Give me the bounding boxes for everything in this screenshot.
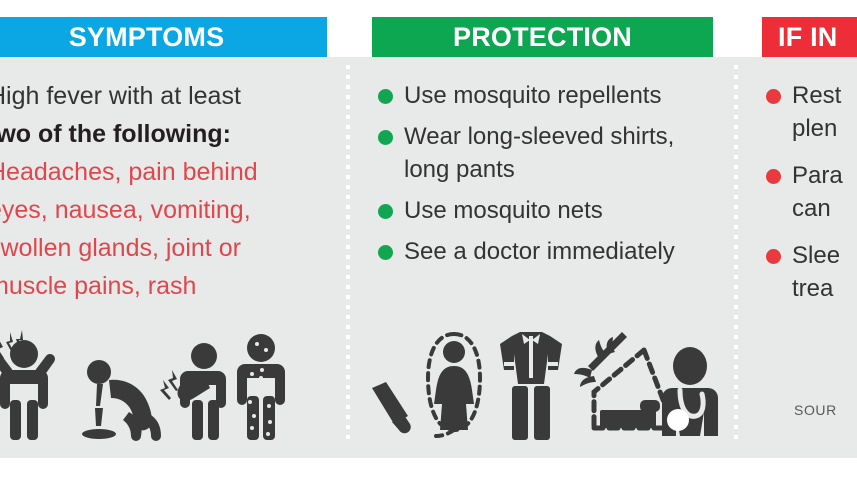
column-symptoms: High fever with at least two of the foll… (0, 57, 340, 458)
protection-item-2: Wear long-sleeved shirts,long pants (404, 120, 674, 186)
header-if-infected: IF IN (762, 17, 857, 57)
column-if-infected: Rest plen Para can Slee trea SOUR (744, 57, 857, 458)
long-sleeved-clothing-icon (498, 330, 564, 442)
source-label: SOUR (794, 402, 837, 418)
list-item: Wear long-sleeved shirts,long pants (378, 120, 728, 186)
symptoms-icon-strip (0, 329, 340, 444)
list-item: Para can (766, 159, 857, 225)
protection-bullet-list: Use mosquito repellents Wear long-sleeve… (356, 79, 728, 276)
bullet-dot-icon (378, 204, 393, 219)
list-item: Rest plen (766, 79, 857, 145)
bullet-dot-icon (766, 169, 781, 184)
rash-figure-icon (228, 330, 294, 442)
content-panel: High fever with at least two of the foll… (0, 57, 857, 458)
symptoms-line-1: High fever with at least (0, 77, 340, 115)
if-infected-item-1: Rest plen (792, 79, 857, 145)
header-symptoms: SYMPTOMS (0, 17, 327, 57)
protection-item-4: See a doctor immediately (404, 235, 675, 268)
header-bar-row: SYMPTOMS PROTECTION IF IN (0, 0, 857, 57)
joint-pain-figure-icon (160, 338, 236, 442)
protected-person-icon (418, 330, 490, 442)
list-item: Use mosquito nets (378, 194, 728, 227)
protection-item-3: Use mosquito nets (404, 194, 603, 227)
symptoms-line-2: two of the following: (0, 115, 340, 153)
headache-figure-icon (0, 330, 70, 442)
column-divider-2 (734, 65, 738, 441)
list-item: Use mosquito repellents (378, 79, 728, 112)
protection-item-1: Use mosquito repellents (404, 79, 661, 112)
column-divider-1 (346, 65, 350, 441)
list-item: See a doctor immediately (378, 235, 728, 268)
bullet-dot-icon (378, 130, 393, 145)
protection-icon-strip (356, 329, 728, 444)
if-infected-item-2: Para can (792, 159, 857, 225)
symptoms-line-4: eyes, nausea, vomiting, (0, 191, 340, 229)
symptoms-text-block: High fever with at least two of the foll… (0, 77, 340, 305)
bullet-dot-icon (766, 249, 781, 264)
header-protection: PROTECTION (372, 17, 713, 57)
list-item: Slee trea (766, 239, 857, 305)
bullet-dot-icon (766, 89, 781, 104)
bullet-dot-icon (378, 245, 393, 260)
if-infected-item-3: Slee trea (792, 239, 857, 305)
column-protection: Use mosquito repellents Wear long-sleeve… (356, 57, 728, 458)
symptoms-line-3: Headaches, pain behind (0, 153, 340, 191)
repellent-tube-icon (368, 382, 412, 440)
symptoms-line-5: swollen glands, joint or (0, 229, 340, 267)
bullet-dot-icon (378, 89, 393, 104)
if-infected-bullet-list: Rest plen Para can Slee trea (744, 79, 857, 319)
doctor-stethoscope-icon (652, 346, 726, 442)
symptoms-line-6: muscle pains, rash (0, 267, 340, 305)
infographic-canvas: SYMPTOMS PROTECTION IF IN High fever wit… (0, 0, 857, 482)
